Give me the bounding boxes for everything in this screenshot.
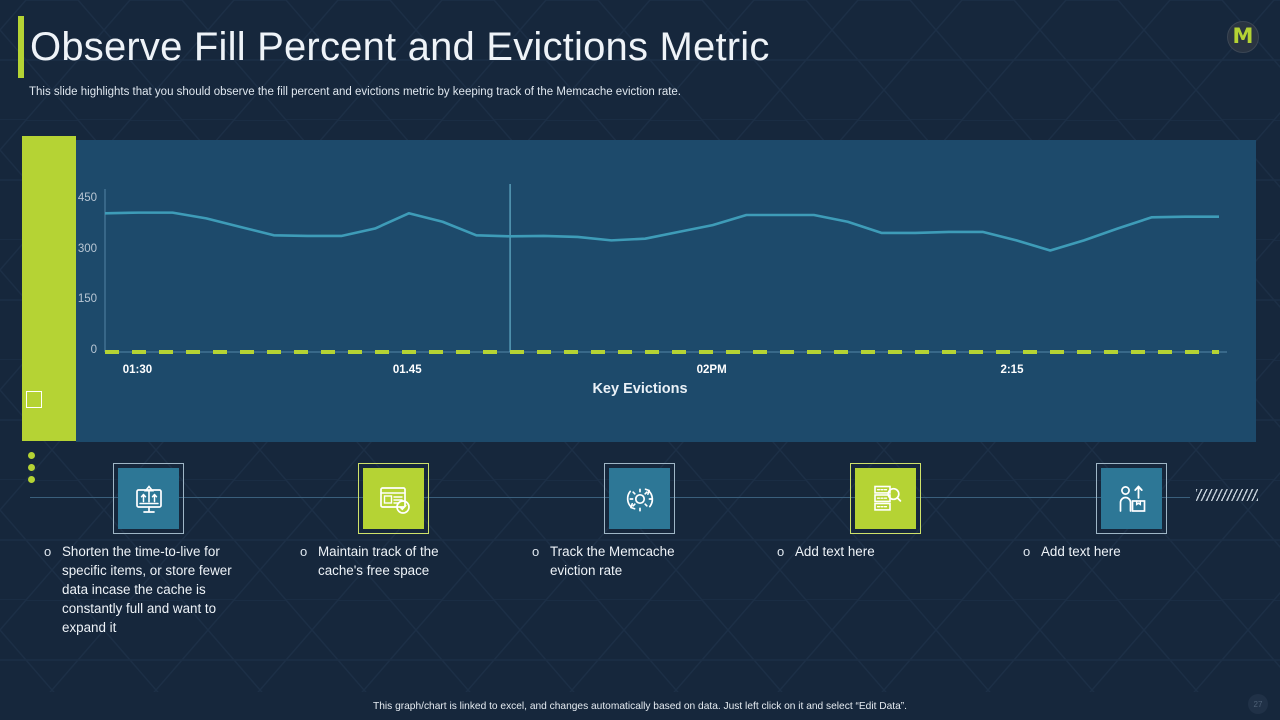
title-accent-bar bbox=[18, 16, 24, 78]
monitor-growth-arrows-icon-glyph bbox=[131, 481, 167, 517]
bullet-row: oAdd text here bbox=[1023, 542, 1183, 561]
bullet-row: oAdd text here bbox=[777, 542, 937, 561]
x-axis-tick: 2:15 bbox=[1000, 364, 1023, 376]
page-number-badge: 27 bbox=[1248, 694, 1268, 714]
bullet-text: Maintain track of the cache's free space bbox=[318, 542, 470, 580]
rail-dot bbox=[28, 452, 35, 459]
gear-sync-icon[interactable] bbox=[609, 468, 670, 529]
chart-axis-title: Key Evictions bbox=[0, 381, 1280, 397]
x-axis-tick: 01.45 bbox=[393, 364, 422, 376]
slide-canvas: Observe Fill Percent and Evictions Metri… bbox=[0, 0, 1280, 720]
y-axis-tick: 0 bbox=[57, 344, 97, 356]
person-upload-box-icon-glyph bbox=[1114, 481, 1150, 517]
rail-dot bbox=[28, 464, 35, 471]
bullet-text: Shorten the time-to-live for specific it… bbox=[62, 542, 244, 637]
bullet-row: oMaintain track of the cache's free spac… bbox=[300, 542, 470, 580]
page-title: Observe Fill Percent and Evictions Metri… bbox=[30, 20, 770, 74]
y-axis-tick: 450 bbox=[57, 192, 97, 204]
timeline-end-hatch bbox=[1196, 489, 1258, 501]
bullet-item: oMaintain track of the cache's free spac… bbox=[300, 542, 470, 580]
footer-note: This graph/chart is linked to excel, and… bbox=[0, 701, 1280, 712]
bullet-item: oTrack the Memcache eviction rate bbox=[532, 542, 702, 580]
server-stack-search-icon-glyph bbox=[868, 481, 904, 517]
bullet-item: oShorten the time-to-live for specific i… bbox=[44, 542, 244, 637]
bullet-marker-icon: o bbox=[1023, 542, 1032, 561]
bullet-text: Track the Memcache eviction rate bbox=[550, 542, 702, 580]
gear-sync-icon-glyph bbox=[622, 481, 658, 517]
bullet-marker-icon: o bbox=[300, 542, 309, 580]
server-stack-search-icon[interactable] bbox=[855, 468, 916, 529]
bullet-item: oAdd text here bbox=[1023, 542, 1183, 561]
bullet-row: oTrack the Memcache eviction rate bbox=[532, 542, 702, 580]
browser-window-check-icon-glyph bbox=[376, 481, 412, 517]
rail-dot bbox=[28, 476, 35, 483]
monitor-growth-arrows-icon[interactable] bbox=[118, 468, 179, 529]
browser-window-check-icon[interactable] bbox=[363, 468, 424, 529]
x-axis-tick: 02PM bbox=[697, 364, 727, 376]
bullet-text: Add text here bbox=[1041, 542, 1121, 561]
y-axis-tick: 300 bbox=[57, 243, 97, 255]
bullet-marker-icon: o bbox=[532, 542, 541, 580]
x-axis-tick: 01:30 bbox=[123, 364, 152, 376]
logo-letter: M bbox=[1233, 26, 1254, 47]
bullet-marker-icon: o bbox=[777, 542, 786, 561]
bullet-marker-icon: o bbox=[44, 542, 53, 637]
bullet-row: oShorten the time-to-live for specific i… bbox=[44, 542, 244, 637]
y-axis-tick: 150 bbox=[57, 293, 97, 305]
bullet-item: oAdd text here bbox=[777, 542, 937, 561]
m-logo-icon: M bbox=[1227, 21, 1259, 53]
page-subtitle: This slide highlights that you should ob… bbox=[29, 85, 1029, 100]
bullet-text: Add text here bbox=[795, 542, 875, 561]
person-upload-box-icon[interactable] bbox=[1101, 468, 1162, 529]
